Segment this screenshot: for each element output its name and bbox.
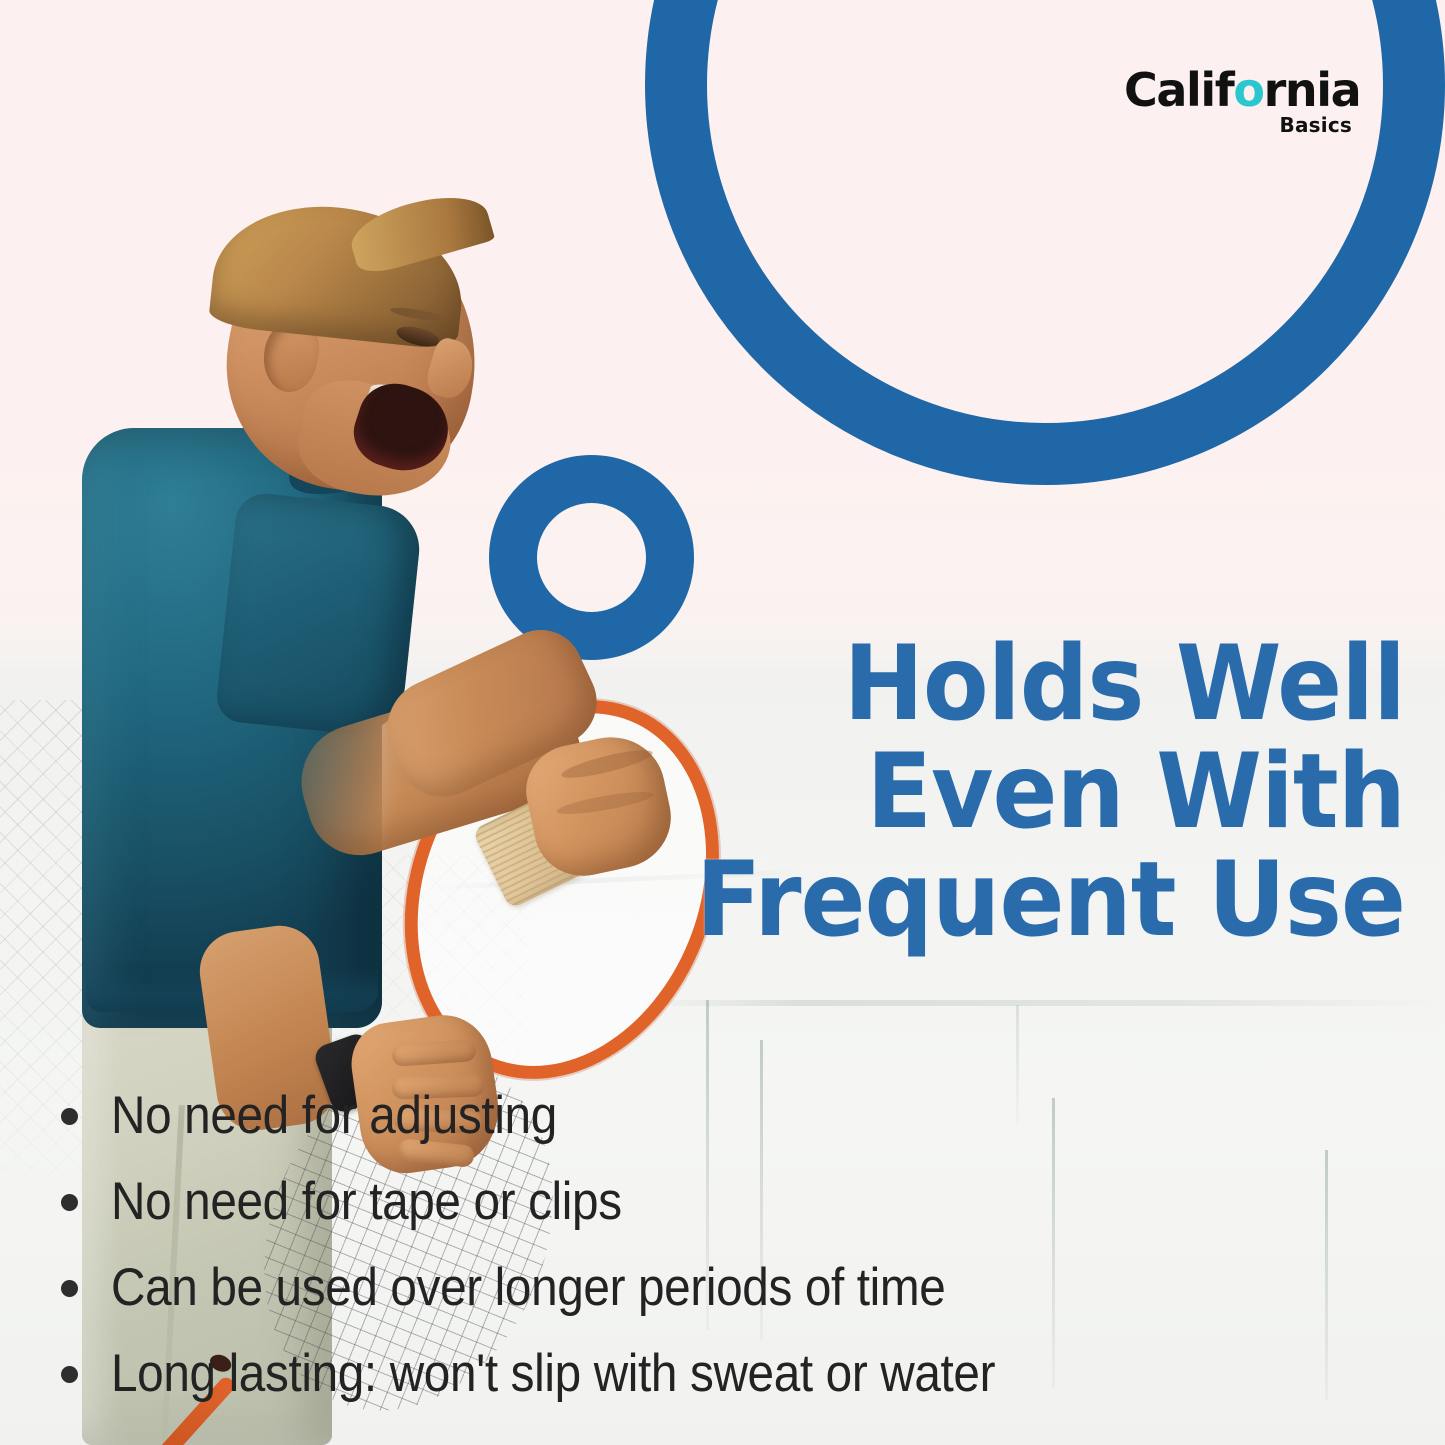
list-item-label: No need for adjusting xyxy=(111,1087,557,1145)
list-item: Long lasting: won't slip with sweat or w… xyxy=(52,1334,1392,1414)
headline-line-2: Even With xyxy=(619,738,1405,846)
court-wall-ledge xyxy=(640,1000,1445,1006)
brand-logo-o-accent: o xyxy=(1233,63,1263,117)
bullet-dot-icon xyxy=(61,1194,78,1211)
page-title: Holds Well Even With Frequent Use xyxy=(619,630,1405,954)
list-item-label: No need for tape or clips xyxy=(111,1173,622,1231)
list-item: No need for adjusting xyxy=(52,1076,1392,1156)
bullet-dot-icon xyxy=(61,1366,78,1383)
headline-line-1: Holds Well xyxy=(619,630,1405,738)
brand-logo-part-2: rnia xyxy=(1264,63,1361,117)
list-item-label: Long lasting: won't slip with sweat or w… xyxy=(111,1345,995,1403)
brand-logo: California Basics xyxy=(1124,64,1356,142)
bullet-dot-icon xyxy=(61,1108,78,1125)
brand-logo-part-1: Calif xyxy=(1124,63,1233,117)
bullet-dot-icon xyxy=(61,1280,78,1297)
list-item-label: Can be used over longer periods of time xyxy=(111,1259,945,1317)
list-item: No need for tape or clips xyxy=(52,1162,1392,1242)
feature-list: No need for adjusting No need for tape o… xyxy=(52,1076,1392,1420)
headline-line-3: Frequent Use xyxy=(619,846,1405,954)
brand-logo-wordmark: California xyxy=(1124,64,1356,116)
product-lifestyle-banner: California Basics Holds Well Even With F… xyxy=(0,0,1445,1445)
brand-logo-subtext: Basics xyxy=(1124,114,1356,136)
player-shirt-sleeve xyxy=(214,491,423,739)
list-item: Can be used over longer periods of time xyxy=(52,1248,1392,1328)
